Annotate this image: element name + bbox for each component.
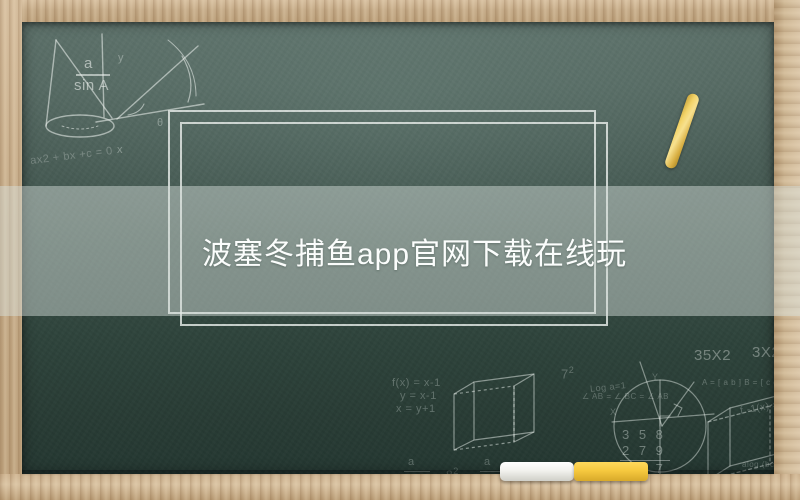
inverse-function: f -1(x) = x (739, 398, 774, 416)
eight-base: 8 (446, 468, 453, 474)
axis-label-y: y (118, 52, 124, 64)
log-note: Log a=1 (590, 380, 627, 394)
seven-base: 7 (561, 366, 569, 381)
axis-label-x-right: X (610, 407, 617, 417)
fraction-sina-left: sin A (402, 473, 428, 474)
frame-right-rail (774, 0, 800, 500)
fraction-bar (76, 74, 110, 76)
geometry-note: ∠ AB = ∠ BC = ∠ AB (582, 392, 669, 401)
fraction-a-left: a (408, 456, 415, 468)
exponent-eight: 82 (446, 466, 459, 474)
angle-theta-label: θ (157, 117, 164, 129)
chalk-piece-yellow-tray (574, 462, 648, 481)
fraction-numerator-a: a (84, 55, 93, 72)
axis-label-x: x (117, 144, 123, 156)
frame-left-rail (0, 0, 22, 500)
subtraction-operand-bottom: 2 7 9 (622, 443, 666, 458)
function-line-2: y = x-1 (400, 390, 437, 402)
chalk-piece-white-tray (500, 462, 574, 481)
fraction-denominator-sina: sin A (74, 77, 109, 94)
chalkboard-surface: a sin A y x θ ax2 + bx +c = 0 f(x) = x-1… (22, 22, 774, 474)
eight-exponent: 2 (453, 466, 459, 474)
axis-label-y-right: Y (652, 372, 659, 382)
frame-bottom-rail (0, 474, 800, 500)
frame-top-rail (0, 0, 800, 22)
function-line-1: f(x) = x-1 (392, 377, 441, 390)
matrix-note: A = [ a b ] B = [ c d ] I = [ 1 0 ] (702, 378, 774, 387)
seven-exponent: 2 (569, 365, 575, 375)
exponent-seven: 72 (561, 365, 574, 381)
subtraction-operand-top: 3 5 8 (622, 427, 666, 442)
multiply-3x2: 3X2 (752, 344, 774, 361)
multiply-35x2: 35X2 (694, 347, 731, 364)
quadratic-equation: ax2 + bx +c = 0 (30, 145, 114, 167)
chalkboard-banner: a sin A y x θ ax2 + bx +c = 0 f(x) = x-1… (0, 0, 800, 500)
function-line-3: x = y+1 (396, 403, 436, 415)
alog-note: alog (bc) (742, 460, 774, 469)
fraction-bar-left (404, 471, 430, 472)
fraction-a-center: a (484, 456, 491, 468)
inner-rectangle (180, 122, 608, 326)
